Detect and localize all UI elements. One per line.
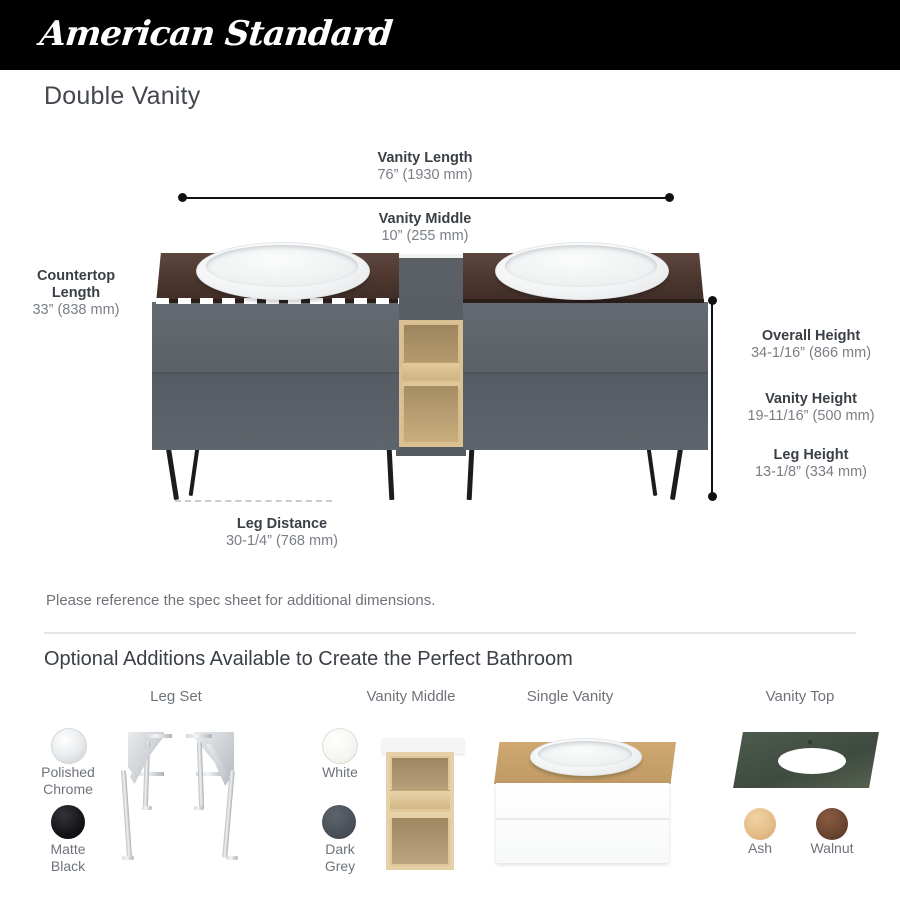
- overall-height-line: [711, 300, 713, 496]
- leg-foot-right-inner: [194, 806, 204, 810]
- swatch-caption-matte-black-line1: Matte: [18, 841, 118, 858]
- swatch-caption-white: White: [292, 764, 388, 781]
- vanity-middle-drawer: [402, 362, 460, 380]
- vanity-cabinet-right-seam: [463, 372, 708, 374]
- dim-vanity-length-title: Vanity Length: [325, 150, 525, 167]
- dim-leg-height-value: 13-1/8” (334 mm): [726, 464, 896, 481]
- swatch-caption-polished-chrome: Polished Chrome: [18, 764, 118, 798]
- dim-leg-distance-title: Leg Distance: [182, 516, 382, 533]
- single-vanity-sink-basin: [538, 741, 632, 767]
- swatch-matte-black[interactable]: [51, 805, 85, 839]
- spec-sheet-page: American Standard Double Vanity Vanity L…: [0, 0, 900, 900]
- leg-pole-left-outer: [121, 770, 132, 858]
- dim-vanity-length-value: 76” (1930 mm): [325, 167, 525, 184]
- swatch-caption-matte-black: Matte Black: [18, 841, 118, 875]
- vanity-middle-art-drawer: [390, 790, 450, 809]
- section-divider: [44, 632, 856, 634]
- vanity-middle-art-lower-cavity: [392, 818, 448, 864]
- single-vanity-drawer-seam: [496, 818, 669, 820]
- optional-additions-heading: Optional Additions Available to Create t…: [44, 648, 573, 671]
- dim-leg-height-title: Leg Height: [726, 447, 896, 464]
- brand-logo: American Standard: [38, 14, 394, 54]
- swatch-dark-grey[interactable]: [322, 805, 356, 839]
- swatch-caption-ash: Ash: [720, 840, 800, 857]
- leg-foot-left: [122, 856, 134, 860]
- spec-sheet-note: Please reference the spec sheet for addi…: [46, 592, 435, 609]
- dim-leg-height: Leg Height 13-1/8” (334 mm): [726, 447, 896, 481]
- vanity-leg-left-front: [166, 448, 179, 500]
- leg-set-illustration: [122, 726, 282, 876]
- vanity-leg-mid-left: [387, 448, 395, 500]
- leg-rail-right-top: [186, 734, 212, 738]
- swatch-ash[interactable]: [744, 808, 776, 840]
- vanity-middle-illustration: [376, 730, 476, 875]
- double-vanity-illustration: [150, 240, 710, 510]
- vanity-length-line: [182, 197, 670, 199]
- sink-right-basin: [505, 245, 657, 287]
- vanity-cabinet-left: [152, 302, 399, 450]
- leg-foot-left-inner: [142, 806, 152, 810]
- swatch-polished-chrome[interactable]: [51, 728, 87, 764]
- header-bar: American Standard: [0, 0, 900, 70]
- vanity-top-sink-cutout: [778, 748, 846, 774]
- dim-countertop-length-title-1: Countertop: [0, 268, 152, 285]
- leg-foot-right: [226, 856, 238, 860]
- swatch-caption-matte-black-line2: Black: [18, 858, 118, 875]
- vanity-middle-upper-cavity: [404, 325, 458, 367]
- swatch-caption-walnut-line1: Walnut: [792, 840, 872, 857]
- dim-countertop-length-value: 33” (838 mm): [0, 302, 152, 319]
- option-label-vanity-top: Vanity Top: [730, 688, 870, 705]
- swatch-caption-white-line1: White: [292, 764, 388, 781]
- dim-leg-distance: Leg Distance 30-1/4” (768 mm): [182, 516, 382, 550]
- swatch-caption-dark-grey: Dark Grey: [292, 841, 388, 875]
- vanity-length-endpoint-right: [665, 193, 674, 202]
- sink-left-basin: [206, 245, 358, 287]
- swatch-caption-ash-line1: Ash: [720, 840, 800, 857]
- dim-vanity-height: Vanity Height 19-11/16” (500 mm): [726, 391, 896, 425]
- swatch-caption-polished-chrome-line1: Polished: [18, 764, 118, 781]
- vanity-length-endpoint-left: [178, 193, 187, 202]
- swatch-white[interactable]: [322, 728, 358, 764]
- vanity-cabinet-right: [463, 302, 708, 450]
- single-vanity-illustration: [488, 730, 683, 870]
- swatch-caption-dark-grey-line2: Grey: [292, 858, 388, 875]
- vanity-cabinet-left-seam: [152, 372, 399, 374]
- vanity-leg-mid-right: [467, 448, 475, 500]
- swatch-caption-dark-grey-line1: Dark: [292, 841, 388, 858]
- vanity-leg-right-back: [647, 448, 658, 496]
- dim-overall-height-title: Overall Height: [726, 328, 896, 345]
- vanity-leg-right-front: [670, 448, 683, 500]
- leg-rail-left-top: [146, 734, 172, 738]
- vanity-leg-left-back: [189, 448, 200, 496]
- swatch-walnut[interactable]: [816, 808, 848, 840]
- swatch-caption-walnut: Walnut: [792, 840, 872, 857]
- swatch-caption-polished-chrome-line2: Chrome: [18, 781, 118, 798]
- dim-vanity-middle-title: Vanity Middle: [325, 211, 525, 228]
- vanity-top-faucet-hole: [808, 740, 812, 744]
- dim-leg-distance-value: 30-1/4” (768 mm): [182, 533, 382, 550]
- dim-countertop-length-title-2: Length: [0, 285, 152, 302]
- dim-overall-height: Overall Height 34-1/16” (866 mm): [726, 328, 896, 362]
- option-label-single-vanity: Single Vanity: [500, 688, 640, 705]
- vanity-top-illustration: [722, 726, 892, 806]
- dim-vanity-length: Vanity Length 76” (1930 mm): [325, 150, 525, 184]
- dim-vanity-height-value: 19-11/16” (500 mm): [726, 408, 896, 425]
- page-title: Double Vanity: [44, 82, 200, 111]
- single-vanity-body: [496, 783, 669, 863]
- option-label-leg-set: Leg Set: [106, 688, 246, 705]
- vanity-middle-lower-cavity: [404, 386, 458, 442]
- dim-vanity-height-title: Vanity Height: [726, 391, 896, 408]
- dim-countertop-length: Countertop Length 33” (838 mm): [0, 268, 152, 319]
- option-label-vanity-middle: Vanity Middle: [341, 688, 481, 705]
- dim-overall-height-value: 34-1/16” (866 mm): [726, 345, 896, 362]
